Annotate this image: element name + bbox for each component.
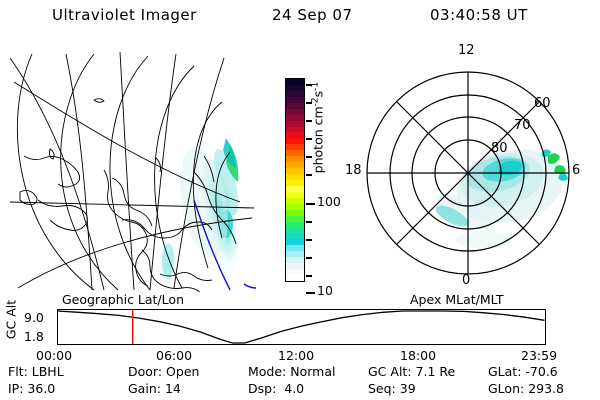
gc-alt-chart-panel[interactable]: GC Alt 9.0 1.8: [0, 300, 600, 350]
status-seq-value: 39: [400, 381, 416, 396]
mlt-label-6: 6: [572, 163, 580, 178]
status-dsp-label: Dsp:: [248, 381, 276, 396]
status-ip-label: IP:: [8, 381, 23, 396]
status-gcalt: GC Alt: 7.1 Re: [368, 364, 455, 379]
latitude-label-60: 60: [534, 96, 551, 111]
mlt-label-0: 0: [462, 273, 470, 288]
status-flt-value: LBHL: [32, 364, 64, 379]
status-door: Door: Open: [128, 364, 199, 379]
gc-alt-trace-line: [58, 311, 545, 343]
colorbar-tick-100: [306, 203, 315, 205]
time-tick-1: 06:00: [156, 348, 192, 363]
colorbar-unit-tail: s: [311, 91, 326, 98]
aurora-emission-geographic: [153, 138, 248, 292]
geographic-map-svg: [8, 52, 260, 292]
status-bar: Flt: LBHL Door: Open Mode: Normal GC Alt…: [0, 364, 600, 398]
colorbar-unit-main: photon cm: [311, 106, 326, 173]
status-gain-value: 14: [165, 381, 181, 396]
latitude-label-70: 70: [514, 118, 531, 133]
status-ip-value: 36.0: [27, 381, 55, 396]
colorbar-minor-tick: [306, 174, 312, 176]
time-tick-2: 12:00: [278, 348, 314, 363]
colorbar-label-10: 10: [317, 285, 333, 298]
status-mode-value: Normal: [290, 364, 335, 379]
colorbar-tick-10: [306, 292, 315, 294]
time-tick-0: 00:00: [36, 348, 72, 363]
status-seq-label: Seq:: [368, 381, 396, 396]
status-glat-value: -70.6: [525, 364, 557, 379]
status-ip: IP: 36.0: [8, 381, 55, 396]
colorbar-minor-tick: [306, 84, 312, 86]
colorbar-minor-tick: [306, 138, 312, 140]
status-mode: Mode: Normal: [248, 364, 336, 379]
gc-alt-plot-svg: [58, 310, 545, 344]
status-gcalt-label: GC Alt:: [368, 364, 412, 379]
latitude-label-80: 80: [491, 141, 508, 156]
apex-dial-svg: [334, 44, 600, 294]
status-glon-label: GLon:: [488, 381, 524, 396]
orbit-track-segment: [244, 284, 256, 288]
colorbar-minor-tick: [306, 102, 312, 104]
status-glon-value: 293.8: [528, 381, 564, 396]
status-dsp-value: 4.0: [284, 381, 304, 396]
colorbar-minor-tick: [306, 156, 312, 158]
gc-alt-axis-label: GC Alt: [4, 297, 19, 343]
gc-alt-ytick-high: 9.0: [24, 310, 44, 325]
colorbar-minor-tick: [306, 239, 312, 241]
status-flt: Flt: LBHL: [8, 364, 64, 379]
colorbar-minor-tick: [306, 275, 312, 277]
status-seq: Seq: 39: [368, 381, 416, 396]
colorbar-segment: [286, 275, 304, 281]
status-flt-label: Flt:: [8, 364, 28, 379]
status-glon: GLon: 293.8: [488, 381, 564, 396]
mlt-label-18: 18: [345, 163, 362, 178]
observation-time: 03:40:58 UT: [430, 6, 528, 24]
mlt-label-12: 12: [458, 43, 475, 58]
geographic-map-panel[interactable]: [8, 52, 260, 292]
status-dsp: Dsp: 4.0: [248, 381, 304, 396]
apex-dial-panel[interactable]: 12 18 6 0 60 70 80: [334, 44, 600, 294]
header-bar: Ultraviolet Imager 24 Sep 07 03:40:58 UT: [0, 6, 600, 30]
status-gain: Gain: 14: [128, 381, 181, 396]
status-mode-label: Mode:: [248, 364, 286, 379]
page-title: Ultraviolet Imager: [52, 6, 197, 24]
gc-alt-plot-area[interactable]: [57, 309, 546, 345]
colorbar-axis-label: photon cm-2s-1: [310, 48, 325, 208]
status-door-label: Door:: [128, 364, 162, 379]
colorbar-gradient[interactable]: [285, 78, 305, 282]
colorbar-minor-tick: [306, 120, 312, 122]
time-axis: 00:00 06:00 12:00 18:00 23:59: [0, 348, 600, 364]
colorbar-minor-tick: [306, 221, 312, 223]
status-glat-label: GLat:: [488, 364, 521, 379]
status-gcalt-value: 7.1 Re: [416, 364, 456, 379]
colorbar-panel: photon cm-2s-1 100 10: [262, 60, 334, 292]
gc-alt-ytick-low: 1.8: [24, 329, 44, 344]
time-tick-3: 18:00: [400, 348, 436, 363]
time-tick-4: 23:59: [521, 348, 557, 363]
colorbar-minor-tick: [306, 257, 312, 259]
status-gain-label: Gain:: [128, 381, 161, 396]
status-door-value: Open: [166, 364, 199, 379]
status-glat: GLat: -70.6: [488, 364, 558, 379]
observation-date: 24 Sep 07: [272, 6, 352, 24]
